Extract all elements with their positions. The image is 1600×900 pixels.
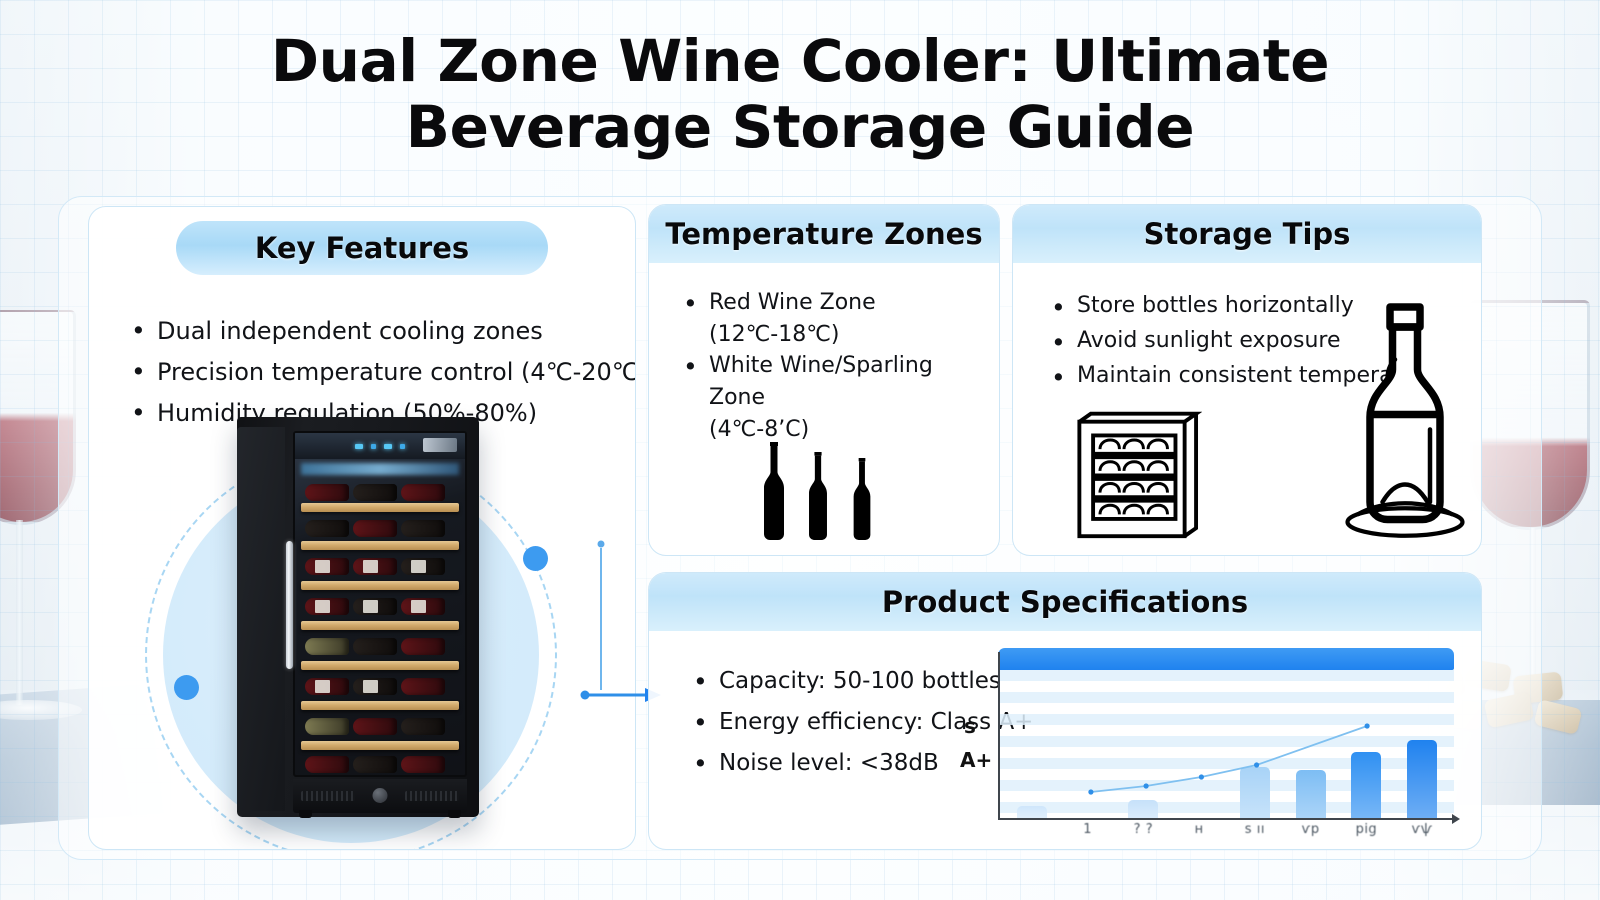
- card-temperature-zones-title: Temperature Zones: [649, 205, 999, 263]
- chart-bar: [1240, 767, 1270, 818]
- bottle: [305, 598, 349, 615]
- bottle-row: [303, 631, 457, 661]
- control-panel: [295, 433, 465, 459]
- led-indicator-icon: [384, 444, 392, 449]
- bottle: [353, 678, 397, 695]
- bottle: [353, 558, 397, 575]
- door-handle: [286, 541, 293, 669]
- bottle: [401, 638, 445, 655]
- key-features-list: Dual independent cooling zones Precision…: [89, 275, 635, 433]
- chart-y-axis: [998, 652, 1000, 820]
- page-title-line2: Beverage Storage Guide: [0, 94, 1600, 160]
- specifications-chart: s A+ 1? ?нѕ ııѵрріցѵѱ: [990, 648, 1458, 838]
- bottle: [305, 558, 349, 575]
- zone-range: (12℃-18℃): [709, 319, 983, 351]
- bottle: [401, 484, 445, 501]
- page-title: Dual Zone Wine Cooler: Ultimate Beverage…: [0, 28, 1600, 160]
- temperature-zones-list: Red Wine Zone (12℃-18℃) White Wine/Sparl…: [649, 263, 999, 445]
- zone-name: Red Wine Zone: [709, 290, 876, 315]
- bottle-row: [303, 711, 457, 741]
- chart-bar: [1017, 806, 1047, 818]
- shelf: [301, 541, 459, 550]
- chart-y-tick-label: A+: [960, 748, 992, 772]
- card-key-features: Key Features Dual independent cooling zo…: [88, 206, 636, 850]
- bottle-row: [303, 551, 457, 581]
- chart-bar: [1128, 800, 1158, 818]
- chart-bars: [1004, 668, 1450, 818]
- bottle: [353, 638, 397, 655]
- chart-bar: [1296, 770, 1326, 818]
- bottle: [353, 520, 397, 537]
- chart-bar: [1351, 752, 1381, 818]
- bottle: [305, 756, 349, 773]
- list-item: Red Wine Zone (12℃-18℃): [683, 287, 983, 350]
- bottle: [401, 756, 445, 773]
- chart-x-tick-label: 1: [1073, 822, 1103, 837]
- brand-logo: [423, 438, 457, 452]
- bottle-row: [303, 749, 457, 777]
- bottle-row: [303, 513, 457, 543]
- bottle: [305, 638, 349, 655]
- bottle: [353, 756, 397, 773]
- halo-dot-icon: [174, 675, 199, 700]
- shelf: [301, 661, 459, 670]
- three-wine-bottles-icon: [754, 430, 882, 540]
- control-knob: [373, 788, 388, 803]
- chart-x-tick-label: ріց: [1351, 822, 1381, 837]
- chart-x-tick-label: ѕ ıı: [1240, 822, 1270, 837]
- cooler-base: [293, 779, 467, 813]
- card-product-specifications-title: Product Specifications: [649, 573, 1481, 631]
- cooler-foot: [448, 810, 461, 818]
- vent-grille: [301, 791, 355, 801]
- chart-x-tick-label: н: [1184, 822, 1214, 837]
- bottle: [305, 484, 349, 501]
- bottle: [305, 678, 349, 695]
- halo-dot-icon: [523, 546, 548, 571]
- bottle: [353, 718, 397, 735]
- bottle: [305, 520, 349, 537]
- shelf: [301, 503, 459, 512]
- list-item: Precision temperature control (4℃-20℃): [131, 352, 609, 393]
- card-key-features-title: Key Features: [176, 221, 548, 275]
- page-title-line1: Dual Zone Wine Cooler: Ultimate: [271, 27, 1329, 95]
- bottle: [401, 598, 445, 615]
- wine-glass-stem: [16, 520, 23, 705]
- infographic-root: Dual Zone Wine Cooler: Ultimate Beverage…: [0, 0, 1600, 900]
- chart-y-tick-label: s: [964, 714, 976, 738]
- bottle-row: [303, 591, 457, 621]
- wine-cooler-product-image: [237, 417, 479, 817]
- chart-x-tick-label: ѵѱ: [1407, 822, 1437, 837]
- chart-bar: [1407, 740, 1437, 818]
- led-indicator-icon: [400, 444, 405, 449]
- wine-rack-icon: [1062, 408, 1202, 543]
- wine-bottle-icon: [801, 452, 835, 540]
- wine-bottle-outline-icon: [1330, 292, 1480, 542]
- cooler-glass-door: [293, 431, 467, 777]
- bottle: [305, 718, 349, 735]
- cooler-foot: [299, 810, 312, 818]
- bottle: [353, 598, 397, 615]
- wine-bottle-icon: [845, 458, 879, 540]
- chart-x-tick-label: ѵр: [1296, 822, 1326, 837]
- chart-x-tick-labels: 1? ?нѕ ııѵрріցѵѱ: [1004, 820, 1450, 838]
- cooler-side-panel: [237, 427, 285, 811]
- led-indicator-icon: [371, 444, 376, 449]
- bottle: [401, 718, 445, 735]
- shelf: [301, 701, 459, 710]
- vent-grille: [405, 791, 459, 801]
- chart-x-axis-arrow-icon: [1452, 814, 1460, 824]
- chart-x-tick-label: ? ?: [1128, 822, 1158, 837]
- shelf: [301, 581, 459, 590]
- bottle: [401, 520, 445, 537]
- led-indicator-icon: [355, 444, 363, 449]
- bottle: [401, 678, 445, 695]
- bottle: [353, 484, 397, 501]
- bottle: [401, 558, 445, 575]
- wine-bottle-icon: [757, 442, 791, 540]
- shelf: [301, 621, 459, 630]
- interior-light: [301, 463, 459, 475]
- card-storage-tips-title: Storage Tips: [1013, 205, 1481, 263]
- list-item: Dual independent cooling zones: [131, 311, 609, 352]
- zone-name: White Wine/Sparling Zone: [709, 353, 933, 410]
- chart-header-bar: [998, 648, 1454, 670]
- bottle-row: [303, 671, 457, 701]
